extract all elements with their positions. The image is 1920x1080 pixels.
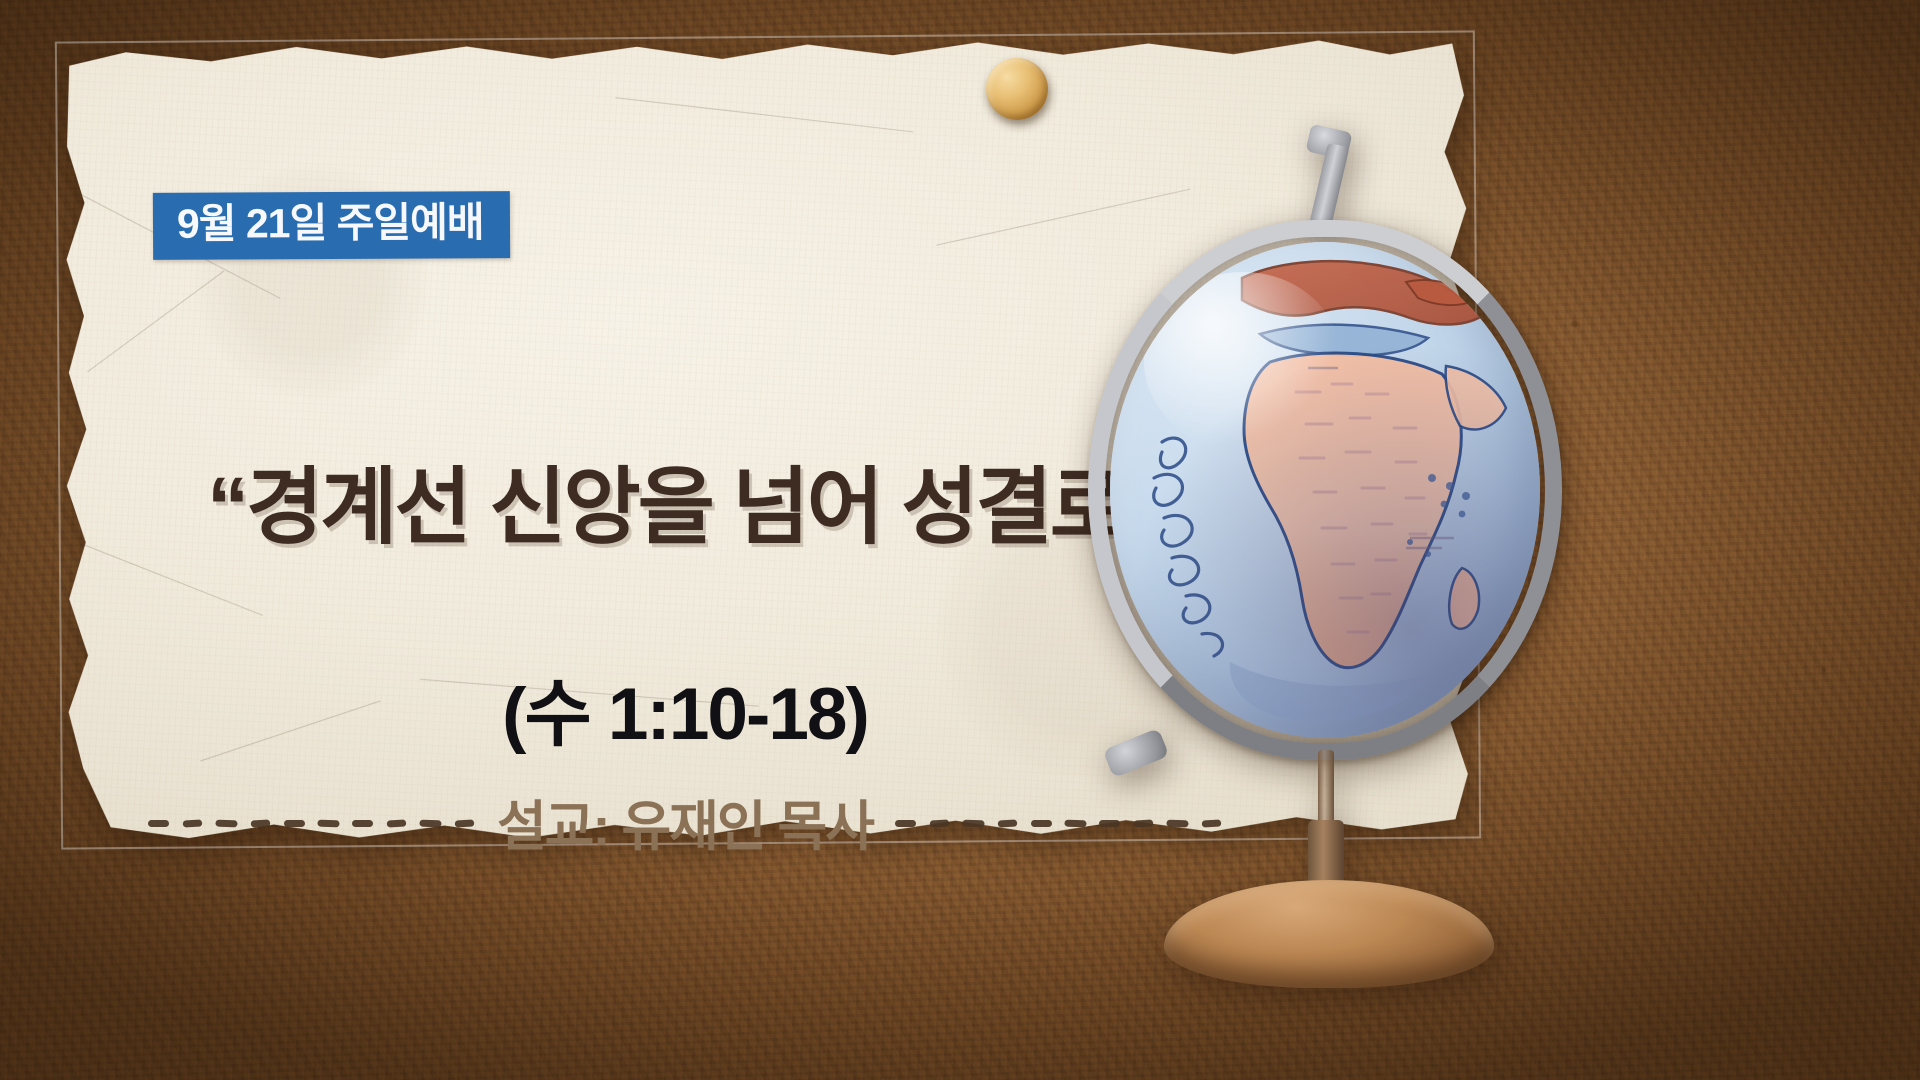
globe-base	[1164, 880, 1494, 988]
globe-ring-knob-top	[1309, 143, 1350, 232]
globe-sphere	[1110, 242, 1540, 738]
thumbtack-icon	[986, 58, 1048, 120]
preacher-name: 설교: 유재인 목사	[497, 782, 873, 861]
service-date-badge: 9월 21일 주일예배	[153, 191, 510, 260]
globe-illustration	[1040, 120, 1600, 1000]
slide-stage: 9월 21일 주일예배 “경계선 신앙을 넘어 성결로” (수 1:10-18)…	[0, 0, 1920, 1080]
dash-decoration-left	[148, 816, 475, 827]
globe-map-art	[1110, 242, 1540, 738]
